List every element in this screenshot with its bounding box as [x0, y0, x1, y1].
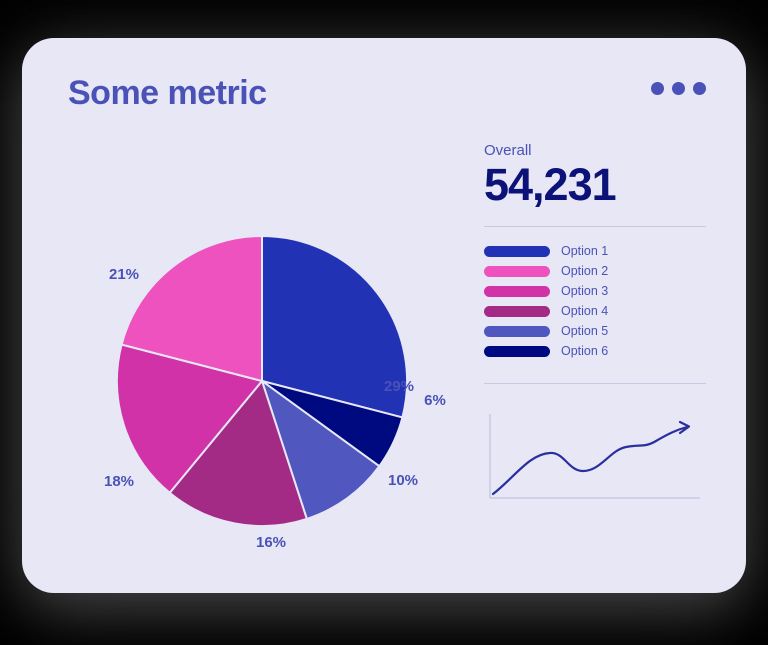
divider-above-trend — [484, 383, 706, 384]
page-title: Some metric — [68, 74, 267, 113]
metric-card: Some metric — [22, 38, 746, 593]
overall-value: 54,231 — [484, 161, 714, 208]
legend-item-option-6[interactable]: Option 6 — [484, 341, 714, 361]
screenshot-stage: Some metric — [0, 0, 768, 645]
menu-dot — [693, 82, 706, 95]
pie-label-option-3: 18% — [104, 473, 134, 490]
pie-label-option-1: 29% — [384, 378, 414, 395]
more-horizontal-icon[interactable] — [651, 82, 706, 95]
trend-sparkline-svg — [484, 406, 706, 506]
legend-swatch-icon — [484, 266, 550, 277]
pie-label-option-4: 16% — [256, 534, 286, 551]
menu-dot — [651, 82, 664, 95]
pie-chart: 29% 21% 18% 16% 10% 6% — [62, 168, 482, 558]
legend-label: Option 4 — [561, 304, 608, 318]
legend-label: Option 3 — [561, 284, 608, 298]
pie-label-option-6: 6% — [424, 392, 446, 409]
legend-item-option-5[interactable]: Option 5 — [484, 321, 714, 341]
trend-sparkline[interactable] — [484, 406, 706, 506]
menu-dot — [672, 82, 685, 95]
legend-swatch-icon — [484, 326, 550, 337]
legend-item-option-2[interactable]: Option 2 — [484, 261, 714, 281]
legend-label: Option 2 — [561, 264, 608, 278]
legend-swatch-icon — [484, 306, 550, 317]
trend-line — [493, 427, 687, 494]
summary-panel: Overall 54,231 Option 1 Option 2 Option … — [484, 142, 714, 506]
overall-label: Overall — [484, 142, 714, 159]
legend-label: Option 1 — [561, 244, 608, 258]
chart-legend: Option 1 Option 2 Option 3 Option 4 Opti… — [484, 241, 714, 361]
legend-label: Option 5 — [561, 324, 608, 338]
pie-chart-svg: 29% 21% 18% 16% 10% 6% — [62, 168, 482, 558]
pie-label-option-5: 10% — [388, 472, 418, 489]
legend-item-option-4[interactable]: Option 4 — [484, 301, 714, 321]
legend-swatch-icon — [484, 346, 550, 357]
legend-swatch-icon — [484, 286, 550, 297]
legend-swatch-icon — [484, 246, 550, 257]
legend-label: Option 6 — [561, 344, 608, 358]
legend-item-option-1[interactable]: Option 1 — [484, 241, 714, 261]
legend-item-option-3[interactable]: Option 3 — [484, 281, 714, 301]
divider-above-legend — [484, 226, 706, 227]
pie-label-option-2: 21% — [109, 266, 139, 283]
